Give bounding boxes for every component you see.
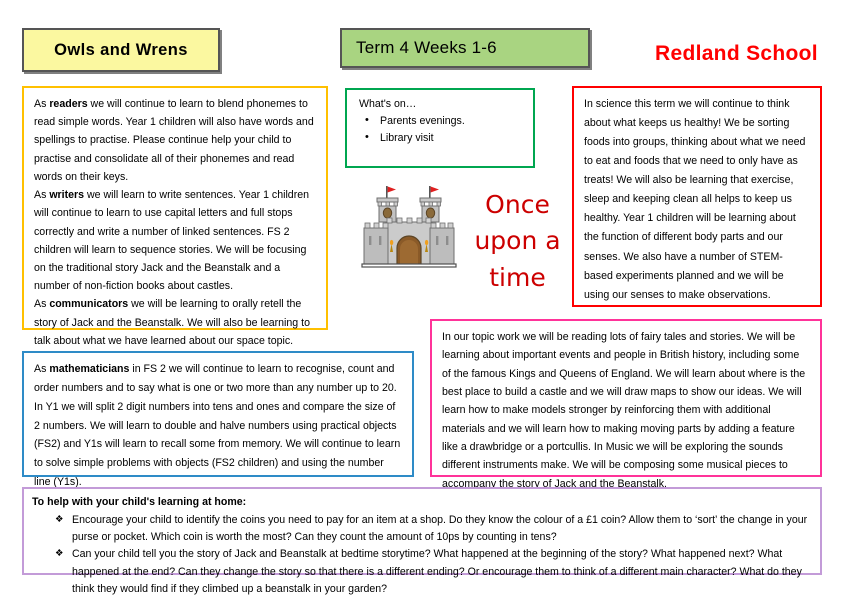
term-title-box: Term 4 Weeks 1-6	[340, 28, 590, 68]
list-item: Can your child tell you the story of Jac…	[72, 546, 812, 597]
science-paragraph: In science this term we will continue to…	[584, 95, 810, 305]
list-item: Parents evenings.	[378, 113, 525, 129]
once-line-1: Once	[465, 187, 570, 223]
once-line-2: upon a	[465, 223, 570, 259]
english-paragraph-communicators: As communicators we will be learning to …	[34, 295, 316, 350]
home-learning-box: To help with your child's learning at ho…	[22, 487, 822, 575]
class-title-box: Owls and Wrens	[22, 28, 220, 72]
home-learning-list: Encourage your child to identify the coi…	[32, 512, 812, 598]
whats-on-list: Parents evenings. Library visit	[355, 113, 525, 146]
once-line-3: time	[465, 260, 570, 296]
english-bold-communicators: communicators	[49, 298, 128, 310]
class-title-text: Owls and Wrens	[54, 41, 188, 60]
english-paragraph-readers: As readers we will continue to learn to …	[34, 95, 316, 186]
topic-text-box: In our topic work we will be reading lot…	[430, 319, 822, 477]
home-learning-heading: To help with your child's learning at ho…	[32, 494, 812, 511]
english-bold-readers: readers	[49, 98, 87, 110]
whats-on-heading: What's on…	[355, 96, 525, 112]
term-title-text: Term 4 Weeks 1-6	[356, 38, 497, 58]
english-text-box: As readers we will continue to learn to …	[22, 86, 328, 330]
whats-on-box: What's on… Parents evenings. Library vis…	[345, 88, 535, 168]
once-upon-a-time-text: Once upon a time	[465, 187, 570, 296]
english-paragraph-writers: As writers we will learn to write senten…	[34, 186, 316, 295]
newsletter-page: Owls and Wrens Term 4 Weeks 1-6 Redland …	[0, 0, 842, 595]
list-item: Encourage your child to identify the coi…	[72, 512, 812, 546]
maths-text-box: As mathematicians in FS 2 we will contin…	[22, 351, 414, 477]
castle-icon	[356, 182, 462, 274]
school-name: Redland School	[655, 42, 818, 66]
science-text-box: In science this term we will continue to…	[572, 86, 822, 307]
maths-paragraph: As mathematicians in FS 2 we will contin…	[34, 360, 402, 492]
list-item: Library visit	[378, 130, 525, 146]
maths-bold-mathematicians: mathematicians	[49, 363, 129, 375]
topic-paragraph: In our topic work we will be reading lot…	[442, 328, 810, 493]
english-bold-writers: writers	[49, 189, 84, 201]
